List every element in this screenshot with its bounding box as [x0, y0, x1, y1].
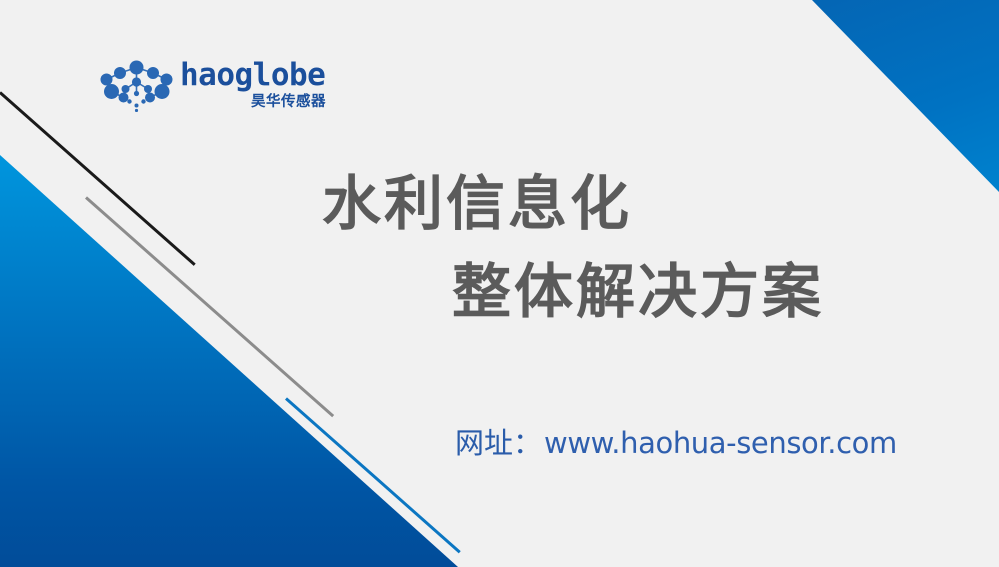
- page-title-line-2: 整体解决方案: [300, 248, 900, 336]
- website-label: 网址：: [455, 420, 542, 462]
- page-title: 水利信息化 整体解决方案: [300, 160, 900, 336]
- website-line: 网址： www.haohua-sensor.com: [455, 420, 897, 462]
- website-url[interactable]: www.haohua-sensor.com: [544, 426, 897, 460]
- logo-text-block: haoglobe 昊华传感器: [180, 58, 326, 118]
- company-logo: haoglobe 昊华传感器: [98, 58, 328, 120]
- blue-diagonal-line: [285, 397, 461, 553]
- title-slide: haoglobe 昊华传感器 水利信息化 整体解决方案 网址： www.haoh…: [0, 0, 999, 567]
- logo-wordmark: haoglobe: [180, 58, 326, 92]
- gray-diagonal-line: [85, 196, 334, 417]
- page-title-line-1: 水利信息化: [300, 160, 900, 248]
- logo-subtitle: 昊华传感器: [180, 94, 326, 110]
- haoglobe-network-dots-logo-mark: [98, 60, 176, 112]
